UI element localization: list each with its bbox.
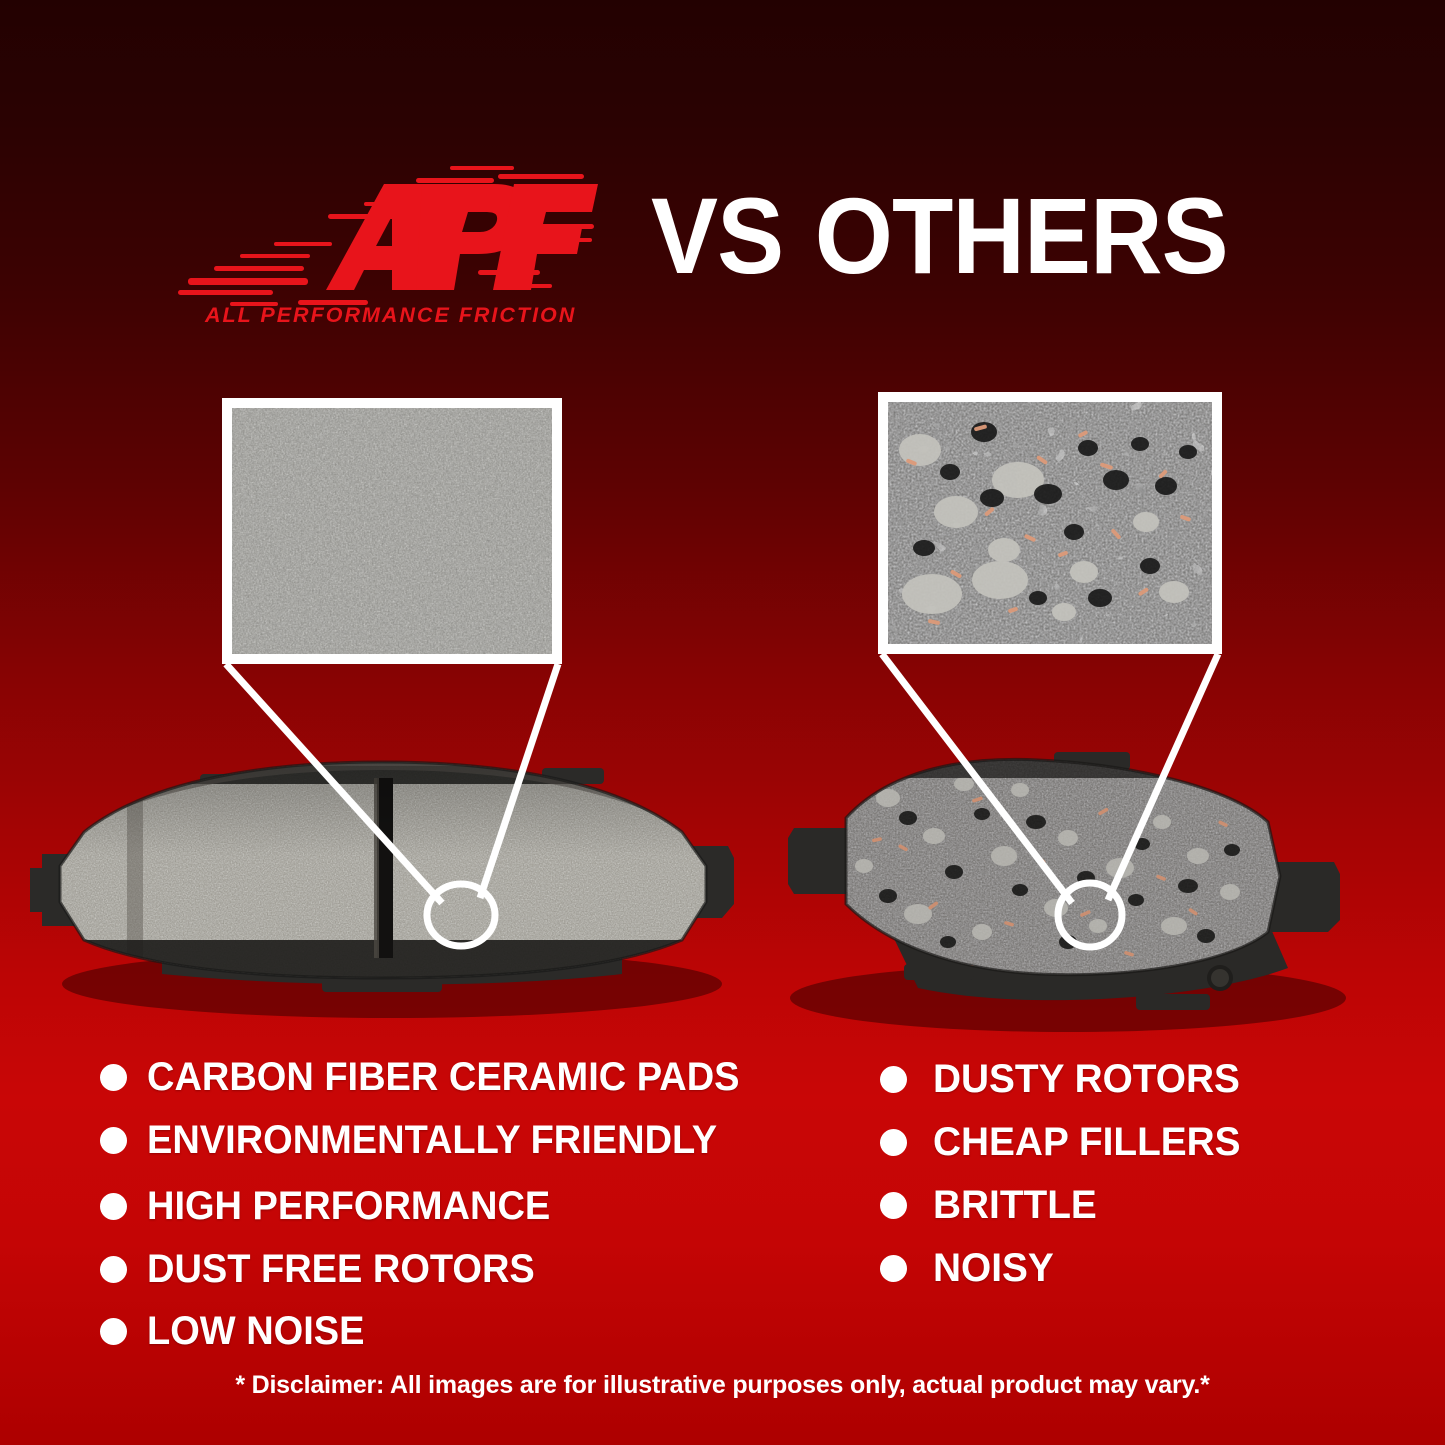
bullet-icon — [100, 1256, 127, 1283]
bullet-icon — [100, 1064, 127, 1091]
feature-label: ENVIRONMENTALLY FRIENDLY — [147, 1118, 717, 1163]
bullet-icon — [100, 1127, 127, 1154]
list-item: DUST FREE ROTORS — [100, 1238, 800, 1300]
feature-label: DUSTY ROTORS — [933, 1057, 1240, 1102]
apf-pad-graphic — [22, 726, 742, 1026]
feature-label: CHEAP FILLERS — [933, 1120, 1241, 1165]
apf-brake-pad-image — [22, 726, 742, 1026]
feature-label: CARBON FIBER CERAMIC PADS — [147, 1055, 740, 1100]
brand-tagline: ALL PERFORMANCE FRICTION — [205, 303, 565, 328]
list-item: NOISY — [880, 1237, 1310, 1300]
bullet-icon — [880, 1066, 907, 1093]
feature-label: DUST FREE ROTORS — [147, 1247, 535, 1292]
fine-ceramic-texture-icon — [232, 408, 552, 654]
others-label: OTHERS — [815, 175, 1228, 296]
callout-box-apf-texture — [222, 398, 562, 664]
feature-label: LOW NOISE — [147, 1309, 364, 1354]
bullet-icon — [100, 1193, 127, 1220]
bullet-icon — [880, 1129, 907, 1156]
feature-label: HIGH PERFORMANCE — [147, 1184, 550, 1229]
bullet-icon — [880, 1192, 907, 1219]
competitor-brake-pad-image — [768, 726, 1348, 1046]
competitor-pad-graphic — [768, 726, 1348, 1046]
list-item: ENVIRONMENTALLY FRIENDLY — [100, 1106, 800, 1174]
disclaimer-text: * Disclaimer: All images are for illustr… — [0, 1371, 1445, 1400]
bullet-icon — [100, 1318, 127, 1345]
callout-box-others-texture — [878, 392, 1222, 654]
others-feature-list: DUSTY ROTORS CHEAP FILLERS BRITTLE NOISY — [880, 1048, 1310, 1300]
apf-feature-list: CARBON FIBER CERAMIC PADS ENVIRONMENTALL… — [100, 1048, 800, 1363]
feature-label: NOISY — [933, 1246, 1054, 1291]
feature-label: BRITTLE — [933, 1183, 1097, 1228]
list-item: DUSTY ROTORS — [880, 1048, 1310, 1111]
list-item: CHEAP FILLERS — [880, 1111, 1310, 1174]
list-item: LOW NOISE — [100, 1300, 800, 1363]
bullet-icon — [880, 1255, 907, 1282]
vs-label: VS — [651, 175, 783, 296]
list-item: BRITTLE — [880, 1174, 1310, 1237]
coarse-filler-texture-icon — [888, 402, 1212, 644]
list-item: HIGH PERFORMANCE — [100, 1174, 800, 1238]
page-title: VSOTHERS — [651, 182, 1228, 290]
comparison-infographic: ALL PERFORMANCE FRICTION VSOTHERS — [0, 0, 1445, 1445]
list-item: CARBON FIBER CERAMIC PADS — [100, 1048, 800, 1106]
